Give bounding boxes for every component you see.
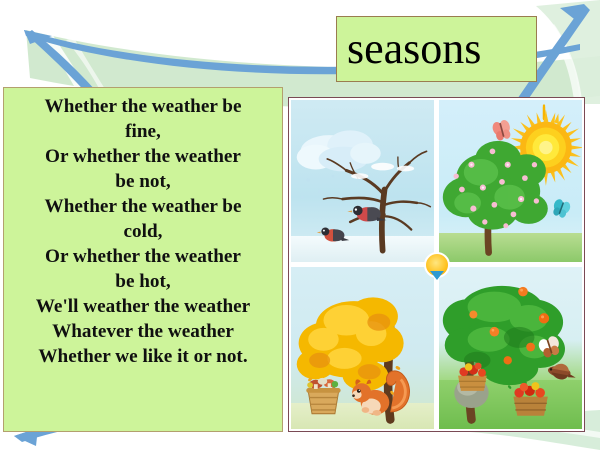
poem-line: be hot, xyxy=(4,269,282,294)
slide-canvas: seasons Whether the weather be fine, Or … xyxy=(0,0,600,450)
mushroom-icon xyxy=(309,378,335,389)
bullfinch-bird-icon xyxy=(317,228,349,242)
apple-icon xyxy=(514,382,545,397)
blossom-tree-icon xyxy=(443,141,548,253)
poem-line: Whether the weather be xyxy=(4,94,282,119)
poem-line: Whether the weather be xyxy=(4,194,282,219)
butterfly-icon xyxy=(550,198,571,219)
poem-line: We'll weather the weather xyxy=(4,294,282,319)
poem-line: cold, xyxy=(4,219,282,244)
quadrant-winter xyxy=(291,100,434,262)
quadrant-summer xyxy=(439,267,582,429)
poem-text-box: Whether the weather be fine, Or whether … xyxy=(3,87,283,432)
poem-line: Or whether the weather xyxy=(4,144,282,169)
page-title: seasons xyxy=(337,27,481,71)
butterfly-icon xyxy=(491,119,513,142)
apple-basket-icon xyxy=(513,382,547,416)
poem-line: fine, xyxy=(4,119,282,144)
quadrant-spring xyxy=(439,100,582,262)
poem-line: Or whether the weather xyxy=(4,244,282,269)
snowflake-icon xyxy=(301,175,334,199)
mushroom-basket-icon xyxy=(306,378,340,414)
quadrant-autumn xyxy=(291,267,434,429)
seasons-image-frame xyxy=(288,97,585,432)
poem-line: Whether we like it or not. xyxy=(4,344,282,369)
poem-line: be not, xyxy=(4,169,282,194)
season-wheel-badge xyxy=(424,252,450,278)
poem-line: Whatever the weather xyxy=(4,319,282,344)
title-box: seasons xyxy=(336,16,537,82)
four-seasons-collage xyxy=(291,100,582,429)
